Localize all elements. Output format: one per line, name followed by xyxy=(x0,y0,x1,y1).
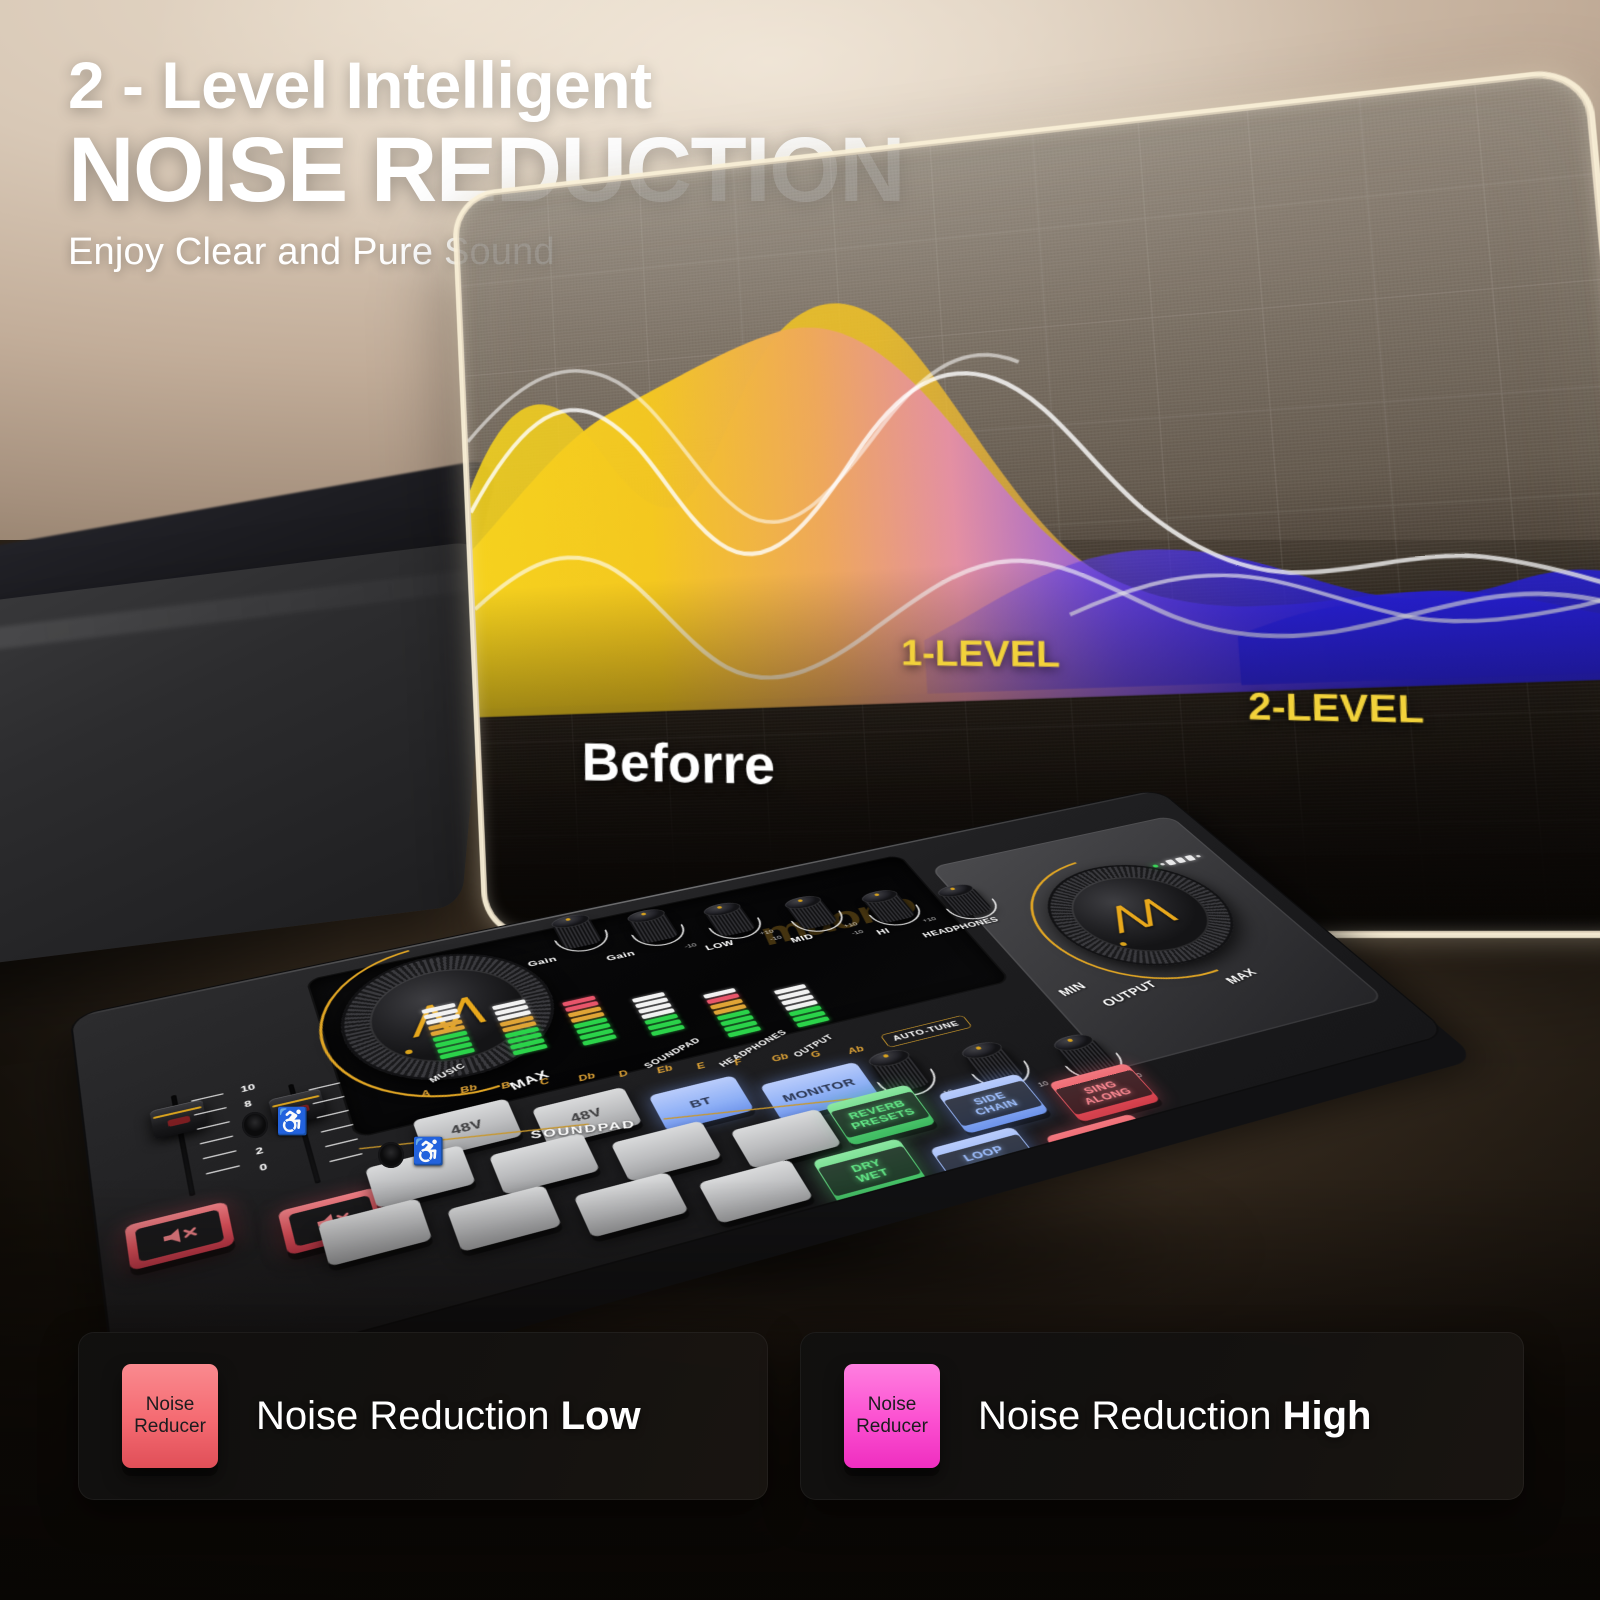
fader-scale-2: 2 xyxy=(255,1145,265,1156)
sing-along-button[interactable]: SING ALONG xyxy=(1048,1063,1161,1122)
fader-scale-0: 0 xyxy=(258,1162,268,1174)
note-label-7: E xyxy=(694,1061,707,1071)
chip-high-line-1: Noise xyxy=(868,1394,917,1416)
headphone-icon-2: ♿ xyxy=(412,1138,444,1164)
fader-scale-10: 10 xyxy=(240,1082,256,1094)
headline-line-1: 2 - Level Intelligent xyxy=(68,52,1068,118)
caption-high-text: Noise Reduction High xyxy=(978,1394,1371,1439)
product-marketing-image: 2 - Level Intelligent NOISE REDUCTION En… xyxy=(0,0,1600,1600)
fx-knob-2-max: 10 xyxy=(1036,1080,1050,1089)
headphone-jack-1[interactable] xyxy=(242,1112,268,1138)
chip-low-line-2: Reducer xyxy=(134,1416,206,1438)
headphone-icon-1: ♿ xyxy=(276,1108,308,1134)
caption-card-low: Noise Reducer Noise Reduction Low xyxy=(78,1332,768,1500)
side-chain-button[interactable]: SIDE CHAIN xyxy=(937,1074,1049,1134)
caption-high-prefix: Noise Reduction xyxy=(978,1394,1283,1438)
led-indicator-2 xyxy=(1195,855,1201,858)
note-label-9: Gb xyxy=(769,1052,790,1064)
chart-label-level-2: 2-LEVEL xyxy=(1248,686,1425,734)
caption-card-high: Noise Reducer Noise Reduction High xyxy=(800,1332,1524,1500)
noise-reducer-chip-high[interactable]: Noise Reducer xyxy=(844,1364,940,1468)
autotune-badge[interactable]: AUTO-TUNE xyxy=(880,1015,973,1048)
led-indicator xyxy=(1159,863,1165,866)
noise-reducer-chip-low[interactable]: Noise Reducer xyxy=(122,1364,218,1468)
note-label-6: Eb xyxy=(655,1063,675,1075)
chip-high-line-2: Reducer xyxy=(856,1416,928,1438)
note-label-11: Ab xyxy=(845,1044,866,1056)
caption-low-text: Noise Reduction Low xyxy=(256,1394,641,1439)
chip-low-line-1: Noise xyxy=(146,1394,195,1416)
headphone-jack-2[interactable] xyxy=(378,1142,404,1168)
caption-low-strong: Low xyxy=(561,1394,641,1438)
fader-scale-8: 8 xyxy=(243,1099,252,1109)
caption-high-strong: High xyxy=(1283,1394,1372,1438)
chart-label-level-1: 1-LEVEL xyxy=(901,633,1060,677)
caption-low-prefix: Noise Reduction xyxy=(256,1394,561,1438)
note-label-10: G xyxy=(808,1049,822,1059)
